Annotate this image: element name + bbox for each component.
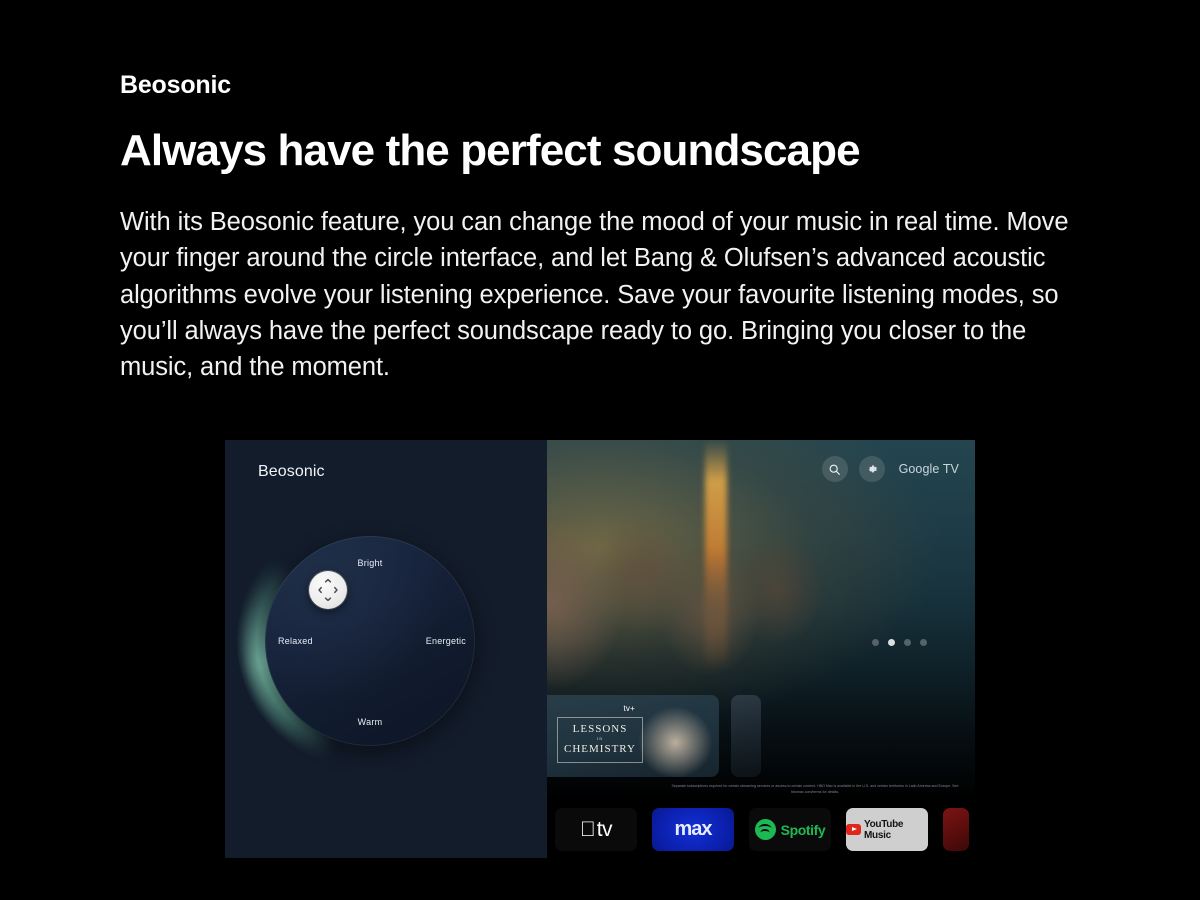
app-apple-tv[interactable]:  tv: [555, 808, 637, 851]
chevron-left-icon: [319, 588, 321, 593]
dial-circle[interactable]: Bright Warm Relaxed Energetic: [265, 536, 475, 746]
gear-icon: [865, 463, 878, 476]
dial-label-warm: Warm: [358, 717, 383, 727]
dial-label-energetic: Energetic: [426, 636, 466, 646]
apple-icon: : [580, 819, 596, 840]
pagination-dot[interactable]: [872, 639, 879, 646]
apple-tv-mark:  tv: [580, 818, 612, 842]
lessons-line-1: LESSONS: [561, 723, 639, 737]
app-youtube-music[interactable]: YouTube Music: [846, 808, 928, 851]
beosonic-panel: Beosonic Bright Warm Relaxed Energetic: [225, 440, 547, 858]
article-text-block: Beosonic Always have the perfect soundsc…: [120, 70, 1100, 385]
app-max[interactable]: max: [652, 808, 734, 851]
hero-pagination[interactable]: [872, 639, 927, 646]
settings-button[interactable]: [859, 456, 885, 482]
chevron-up-icon: [326, 580, 331, 582]
page-title: Always have the perfect soundscape: [120, 126, 1100, 175]
eyebrow-label: Beosonic: [120, 70, 1100, 100]
product-media-figure: os Library: [225, 440, 975, 858]
google-tv-brand: Google TV: [899, 462, 959, 476]
lessons-title-card: LESSONS in CHEMISTRY: [557, 717, 643, 763]
tv-top-bar-actions: Google TV: [822, 456, 959, 482]
dial-label-bright: Bright: [357, 558, 382, 568]
pagination-dot-active[interactable]: [888, 639, 895, 646]
app-partial-red[interactable]: [943, 808, 969, 851]
youtube-play-icon: [846, 824, 861, 835]
dial-label-relaxed: Relaxed: [278, 636, 313, 646]
lessons-line-2: in: [561, 737, 639, 743]
beosonic-dial[interactable]: Bright Warm Relaxed Energetic: [265, 536, 475, 746]
pagination-dot[interactable]: [920, 639, 927, 646]
legal-fineprint: Separate subscriptions required for cert…: [665, 784, 965, 795]
tile-edge-partial[interactable]: [731, 695, 761, 777]
search-button[interactable]: [822, 456, 848, 482]
app-youtube-music-label: YouTube Music: [864, 819, 928, 841]
app-spotify[interactable]: Spotify: [749, 808, 831, 851]
chevron-down-icon: [326, 598, 331, 600]
chevron-right-icon: [335, 588, 337, 593]
pagination-dot[interactable]: [904, 639, 911, 646]
search-icon: [828, 463, 841, 476]
tile-lessons-in-chemistry[interactable]: tv+ LESSONS in CHEMISTRY: [537, 695, 719, 777]
beosonic-panel-title: Beosonic: [258, 463, 325, 481]
lessons-line-3: CHEMISTRY: [561, 743, 639, 757]
app-logo-row:  tv max Spotify YouTube Music: [555, 808, 969, 851]
app-max-label: max: [674, 818, 711, 841]
app-apple-tv-label: tv: [597, 818, 612, 842]
apple-tv-plus-logo: tv+: [537, 704, 719, 713]
body-paragraph: With its Beosonic feature, you can chang…: [120, 204, 1105, 385]
app-spotify-label: Spotify: [781, 822, 826, 838]
spotify-icon: [755, 819, 776, 840]
dial-handle[interactable]: [309, 571, 347, 609]
